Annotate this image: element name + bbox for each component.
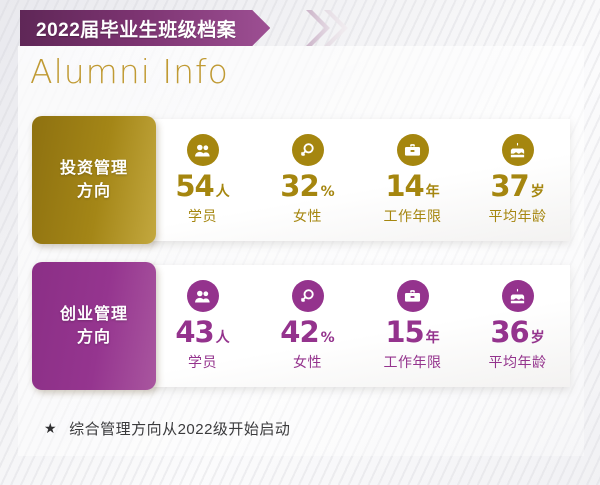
stat-caption: 平均年龄 xyxy=(489,352,547,372)
banner-shape: 2022届毕业生班级档案 xyxy=(20,10,270,46)
stat-students: 43 人 学员 xyxy=(150,280,255,372)
users-icon xyxy=(187,134,219,166)
briefcase-icon xyxy=(397,134,429,166)
stat-value: 42 xyxy=(280,318,318,347)
track-label-entrepreneurship: 创业管理 方向 xyxy=(32,262,156,390)
stat-work-years: 14 年 工作年限 xyxy=(360,134,465,226)
cake-icon xyxy=(502,280,534,312)
stat-value: 54 xyxy=(175,172,213,201)
track-label-line1: 创业管理 xyxy=(60,306,128,323)
stat-students: 54 人 学员 xyxy=(150,134,255,226)
footnote-text: 综合管理方向从2022级开始启动 xyxy=(69,418,290,439)
stats-group-investment: 54 人 学员 32 % 女性 xyxy=(150,119,570,241)
stat-value: 32 xyxy=(280,172,318,201)
track-label-line2: 方向 xyxy=(77,329,111,346)
stats-group-entrepreneurship: 43 人 学员 42 % 女性 xyxy=(150,265,570,387)
track-label-line2: 方向 xyxy=(77,183,111,200)
stat-value: 14 xyxy=(385,172,423,201)
stat-unit: 岁 xyxy=(531,331,545,345)
stat-unit: 岁 xyxy=(531,185,545,199)
stat-value: 43 xyxy=(175,318,213,347)
stat-caption: 女性 xyxy=(293,206,322,226)
female-icon xyxy=(292,134,324,166)
stat-unit: 人 xyxy=(216,331,230,345)
star-icon: ★ xyxy=(44,420,57,437)
briefcase-icon xyxy=(397,280,429,312)
track-label-line1: 投资管理 xyxy=(60,160,128,177)
footnote: ★ 综合管理方向从2022级开始启动 xyxy=(44,418,290,439)
content-panel xyxy=(18,46,584,456)
chevron-arrow-icon-2 xyxy=(324,10,348,46)
stat-caption: 工作年限 xyxy=(384,352,442,372)
header-banner: 2022届毕业生班级档案 xyxy=(20,10,270,46)
stat-value: 36 xyxy=(490,318,528,347)
stat-unit: 年 xyxy=(426,331,440,345)
stat-unit: % xyxy=(321,185,335,199)
stat-caption: 工作年限 xyxy=(384,206,442,226)
stat-work-years: 15 年 工作年限 xyxy=(360,280,465,372)
stat-female-ratio: 32 % 女性 xyxy=(255,134,360,226)
stat-caption: 平均年龄 xyxy=(489,206,547,226)
stat-unit: % xyxy=(321,331,335,345)
stat-caption: 学员 xyxy=(188,352,217,372)
track-row-investment: 投资管理 方向 54 人 学员 xyxy=(32,116,570,244)
page-title: Alumni Info xyxy=(30,52,229,91)
female-icon xyxy=(292,280,324,312)
track-label-investment: 投资管理 方向 xyxy=(32,116,156,244)
infographic-page: 2022届毕业生班级档案 Alumni Info 投资管理 方向 xyxy=(0,0,600,485)
stat-value: 15 xyxy=(385,318,423,347)
stat-caption: 女性 xyxy=(293,352,322,372)
stat-value: 37 xyxy=(490,172,528,201)
stat-caption: 学员 xyxy=(188,206,217,226)
stat-average-age: 37 岁 平均年龄 xyxy=(465,134,570,226)
track-row-entrepreneurship: 创业管理 方向 43 人 学员 xyxy=(32,262,570,390)
banner-title: 2022届毕业生班级档案 xyxy=(36,15,236,42)
stat-average-age: 36 岁 平均年龄 xyxy=(465,280,570,372)
stat-female-ratio: 42 % 女性 xyxy=(255,280,360,372)
stat-unit: 年 xyxy=(426,185,440,199)
cake-icon xyxy=(502,134,534,166)
stat-unit: 人 xyxy=(216,185,230,199)
users-icon xyxy=(187,280,219,312)
